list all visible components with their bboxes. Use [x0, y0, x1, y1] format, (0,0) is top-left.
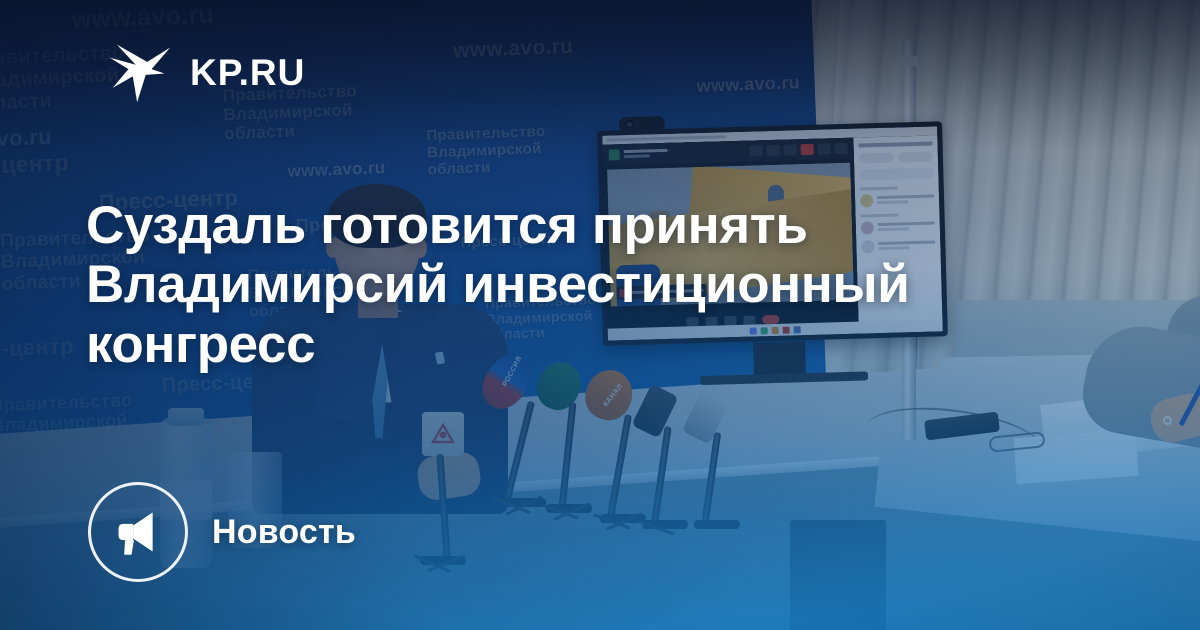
computer-tower — [790, 520, 886, 630]
invite-button[interactable] — [859, 153, 894, 164]
fullscreen-icon[interactable] — [835, 143, 848, 154]
badge-icon-circle — [88, 482, 188, 582]
megaphone-icon — [112, 506, 164, 558]
meeting-badge-icon — [609, 149, 620, 160]
mic-base — [694, 520, 740, 529]
headline-line-3: конгресс — [86, 315, 1096, 374]
backdrop-url: www.avo.ru — [0, 125, 52, 154]
backdrop-url: www.avo.ru — [71, 1, 214, 34]
kp-logo-text: KP.RU — [190, 54, 305, 91]
bottle-cap — [168, 408, 204, 426]
chat-icon[interactable] — [784, 144, 797, 155]
link-icon[interactable] — [750, 145, 763, 156]
backdrop-url: www.avo.ru — [287, 158, 385, 181]
triangle-a-logo-icon — [430, 422, 456, 446]
manage-button[interactable] — [898, 151, 933, 162]
participants-header — [859, 141, 933, 147]
kp-logo[interactable]: KP.RU — [104, 36, 305, 108]
swallow-bird-icon — [104, 36, 176, 108]
participants-actions — [859, 151, 933, 163]
meeting-title-text — [624, 148, 668, 159]
speaking-group-label — [860, 186, 899, 190]
backdrop-press-center: Пресс-центр — [0, 150, 69, 181]
backdrop-org-text: Правительство Владимирской области — [426, 124, 547, 179]
badge-label: Новость — [212, 513, 356, 552]
headline-line-1: Суздаль готовится принять — [86, 196, 1096, 255]
backdrop-url: www.avo.ru — [453, 35, 574, 63]
microphone-icon[interactable] — [767, 145, 780, 156]
category-badge: Новость — [88, 482, 356, 582]
participants-icon[interactable] — [801, 144, 814, 155]
mic-cube-flag — [422, 412, 464, 456]
headline: Суздаль готовится принять Владимирсий ин… — [86, 196, 1096, 374]
backdrop-press-center: Пресс-центр — [0, 334, 74, 364]
headline-line-2: Владимирсий инвестиционный — [86, 255, 1096, 314]
news-share-card: www.avo.ru www.avo.ru www.avo.ru www.avo… — [0, 0, 1200, 630]
screen-share-icon[interactable] — [818, 143, 831, 154]
backdrop-url: www.avo.ru — [696, 72, 800, 96]
participants-search-input[interactable] — [859, 167, 933, 180]
finger-ring — [1163, 416, 1172, 425]
tv-mount-bracket — [900, 56, 918, 66]
